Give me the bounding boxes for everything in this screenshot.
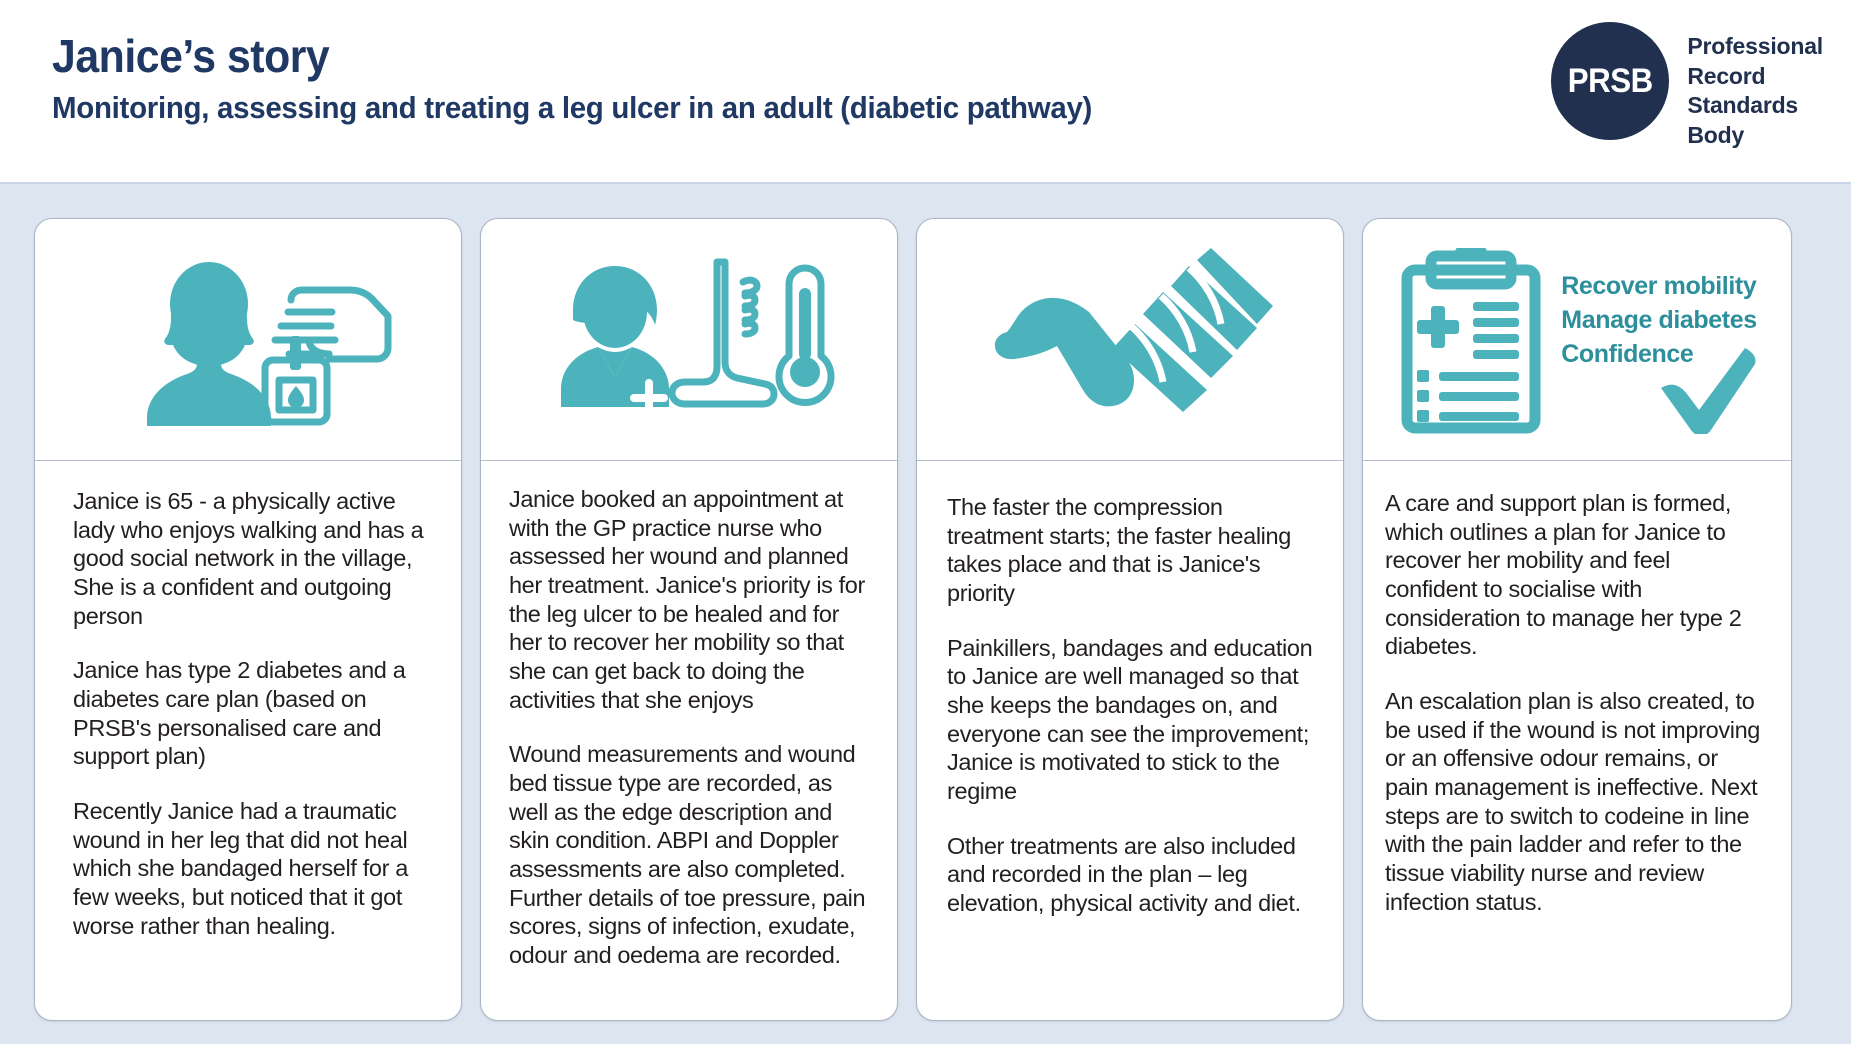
story-card-3: The faster the compression treatment sta… (916, 218, 1344, 1021)
story-card-4: Recover mobility Manage diabetes Confide… (1362, 218, 1792, 1021)
card-1-paragraph-2: Janice has type 2 diabetes and a diabete… (73, 656, 427, 771)
logo-line-3: Standards (1687, 91, 1823, 121)
medical-clipboard-icon (1397, 248, 1547, 438)
prsb-logo: PRSB Professional Record Standards Body (1551, 22, 1823, 151)
goal-item-1: Recover mobility (1561, 270, 1756, 302)
nurse-foot-thermometer-icon (529, 248, 849, 438)
logo-line-1: Professional (1687, 32, 1823, 62)
card-1-paragraph-3: Recently Janice had a traumatic wound in… (73, 797, 427, 940)
card-2-icon-area (481, 219, 897, 461)
card-1-icon-area (35, 219, 461, 461)
card-2-paragraph-2: Wound measurements and wound bed tissue … (509, 740, 873, 969)
card-4-paragraph-2: An escalation plan is also created, to b… (1385, 687, 1765, 916)
goal-item-2: Manage diabetes (1561, 304, 1756, 336)
prsb-logo-mark-text: PRSB (1568, 62, 1653, 101)
card-1-paragraph-1: Janice is 65 - a physically active lady … (73, 487, 427, 630)
card-3-body: The faster the compression treatment sta… (917, 461, 1343, 954)
page-title: Janice’s story (52, 30, 1070, 83)
page-header: Janice’s story Monitoring, assessing and… (0, 0, 1851, 184)
story-card-2: Janice booked an appointment at with the… (480, 218, 898, 1021)
card-4-icon-goals-group: Recover mobility Manage diabetes Confide… (1397, 248, 1756, 438)
card-3-paragraph-1: The faster the compression treatment sta… (947, 493, 1315, 608)
checkmark-icon (1653, 344, 1763, 434)
card-3-paragraph-2: Painkillers, bandages and education to J… (947, 634, 1315, 806)
prsb-logo-wordmark: Professional Record Standards Body (1687, 22, 1823, 151)
card-2-body: Janice booked an appointment at with the… (481, 461, 897, 1006)
story-card-1: Janice is 65 - a physically active lady … (34, 218, 462, 1021)
infographic-page: Janice’s story Monitoring, assessing and… (0, 0, 1851, 1044)
story-card-list: Janice is 65 - a physically active lady … (0, 184, 1851, 1044)
card-4-body: A care and support plan is formed, which… (1363, 461, 1791, 952)
prsb-logo-mark: PRSB (1551, 22, 1669, 140)
card-4-goals: Recover mobility Manage diabetes Confide… (1561, 248, 1756, 370)
woman-with-glucose-meter-icon (93, 248, 403, 438)
card-3-paragraph-3: Other treatments are also included and r… (947, 832, 1315, 918)
bandaged-leg-icon (985, 248, 1275, 438)
header-titles: Janice’s story Monitoring, assessing and… (52, 30, 1147, 127)
logo-line-2: Record (1687, 62, 1823, 92)
page-subtitle: Monitoring, assessing and treating a leg… (52, 89, 1092, 126)
logo-line-4: Body (1687, 121, 1823, 151)
card-4-paragraph-1: A care and support plan is formed, which… (1385, 489, 1765, 661)
card-1-body: Janice is 65 - a physically active lady … (35, 461, 461, 976)
card-4-icon-area: Recover mobility Manage diabetes Confide… (1363, 219, 1791, 461)
card-2-paragraph-1: Janice booked an appointment at with the… (509, 485, 873, 714)
card-3-icon-area (917, 219, 1343, 461)
